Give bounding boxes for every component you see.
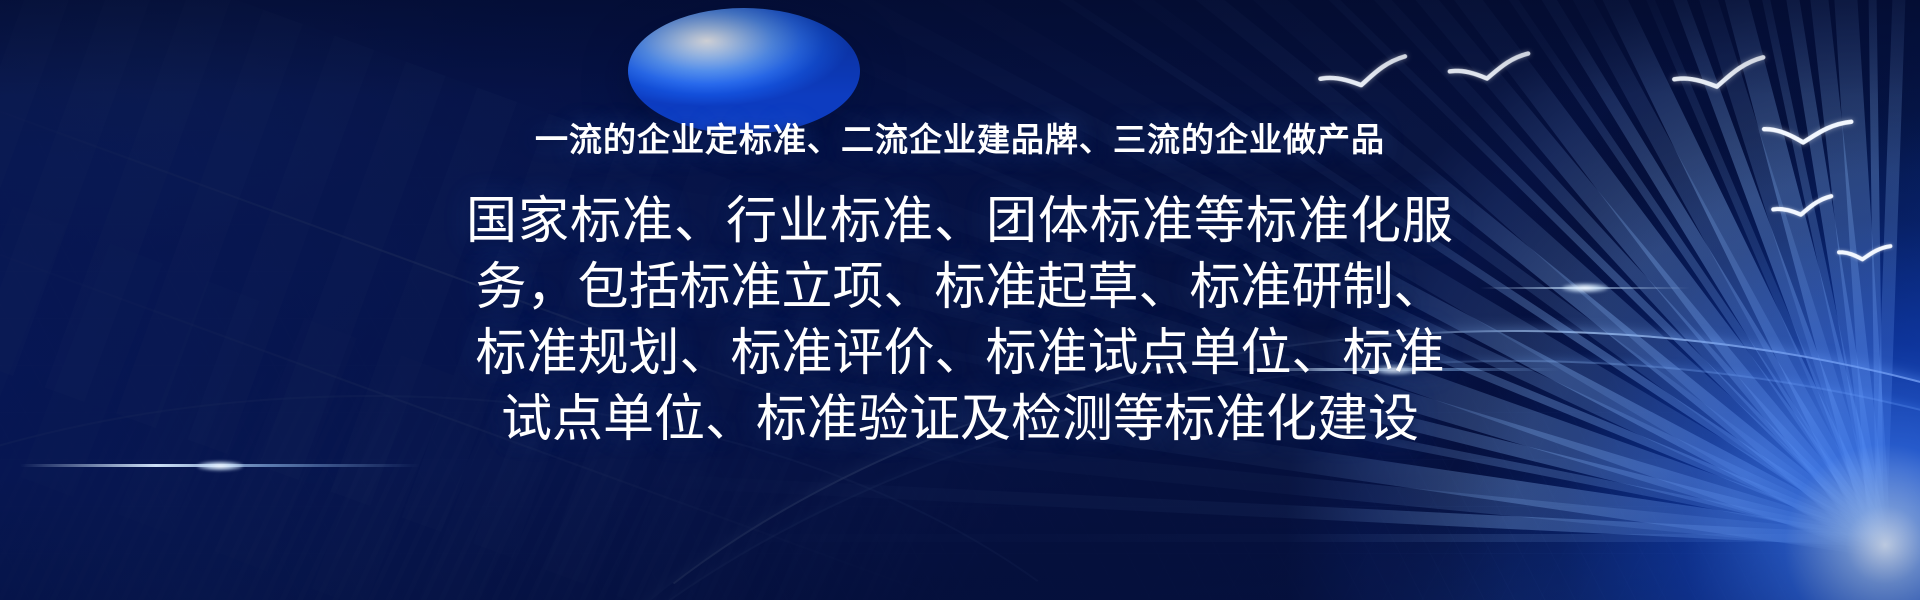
body-line-1: 国家标准、行业标准、团体标准等标准化服	[325, 188, 1595, 254]
body-line-4: 试点单位、标准验证及检测等标准化建设	[325, 386, 1595, 452]
banner-headline: 一流的企业定标准、二流企业建品牌、三流的企业做产品	[0, 0, 1920, 160]
banner-root: 一流的企业定标准、二流企业建品牌、三流的企业做产品 国家标准、行业标准、团体标准…	[0, 0, 1920, 600]
banner-body-copy: 国家标准、行业标准、团体标准等标准化服 务，包括标准立项、标准起草、标准研制、 …	[325, 188, 1595, 453]
banner-text-block: 一流的企业定标准、二流企业建品牌、三流的企业做产品 国家标准、行业标准、团体标准…	[0, 0, 1920, 453]
body-line-3: 标准规划、标准评价、标准试点单位、标准	[325, 320, 1595, 386]
lens-flare-streak-left	[20, 464, 420, 467]
body-line-2: 务，包括标准立项、标准起草、标准研制、	[325, 254, 1595, 320]
